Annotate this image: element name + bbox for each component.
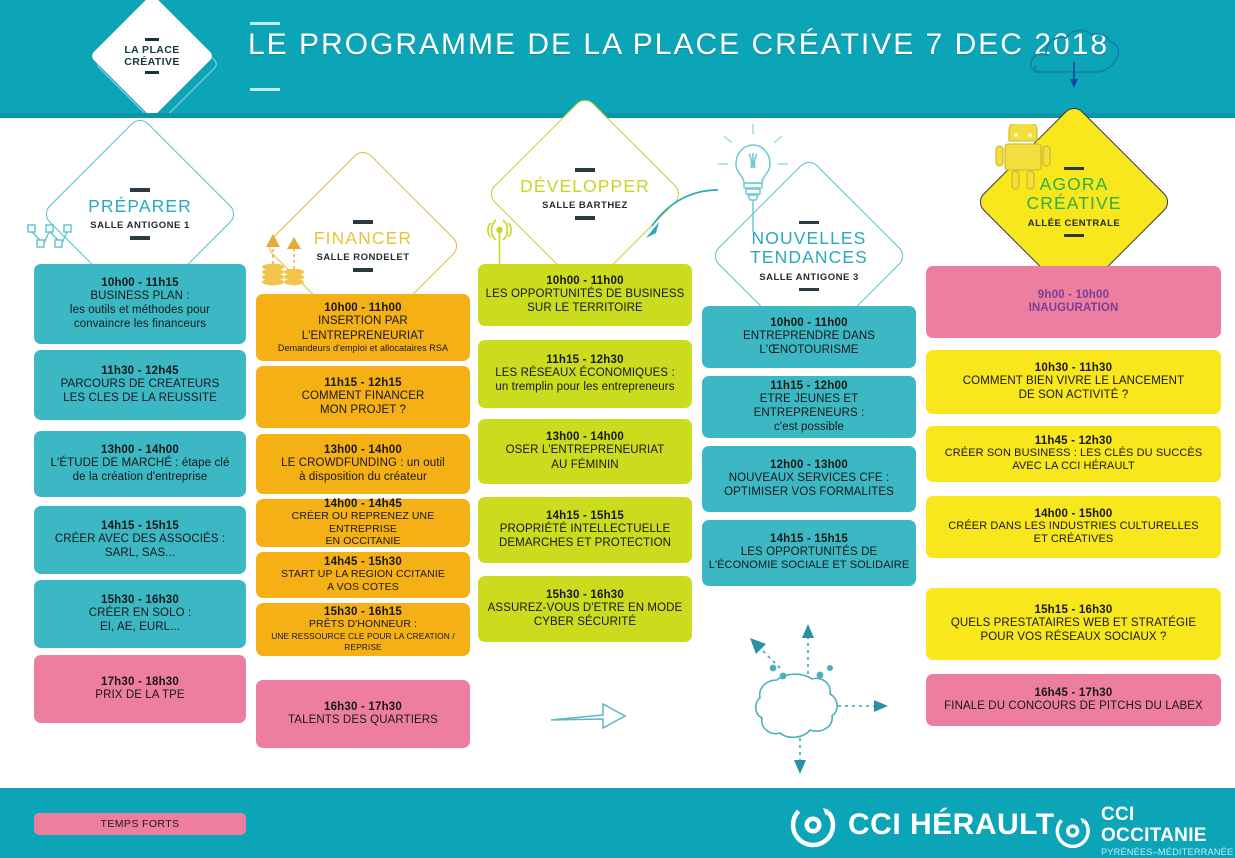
- session-title-line: ET CRÉATIVES: [1034, 533, 1114, 546]
- logo-dash-top: [145, 38, 159, 41]
- coins-growth-icon: [260, 230, 314, 293]
- cci-occitanie-logo: CCI OCCITANIE PYRÉNÉES–MÉDITERRANÉE: [1055, 805, 1235, 857]
- session-title-line: POUR VOS RÉSEAUX SOCIAUX ?: [980, 630, 1166, 644]
- program-board: PRÉPARER SALLE ANTIGONE 1 10h00 -: [0, 118, 1235, 788]
- session-title-line: PRIX DE LA TPE: [95, 688, 184, 702]
- session-title-line: NOUVEAUX SERVICES CFE :: [729, 471, 890, 485]
- session-time: 10h00 - 11h00: [770, 317, 847, 329]
- session-title-line: BUSINESS PLAN :: [90, 289, 189, 303]
- session-time: 15h30 - 16h15: [324, 606, 402, 618]
- head-dash-bottom: [799, 288, 819, 292]
- session-title-line: un tremplin pour les entrepreneurs: [495, 380, 674, 394]
- session-title-line: OSER L'ENTREPRENEURIAT: [506, 443, 665, 457]
- session-title-line: QUELS PRESTATAIRES WEB ET STRATÉGIE: [951, 616, 1196, 630]
- session-title-line: INSERTION PAR L'ENTREPRENEURIAT: [262, 314, 464, 342]
- session-title-line: à disposition du créateur: [299, 470, 427, 484]
- head-dash-bottom: [575, 216, 595, 220]
- session-card[interactable]: 15h15 - 16h30 QUELS PRESTATAIRES WEB ET …: [926, 588, 1221, 660]
- head-dash-top: [353, 220, 373, 224]
- session-card[interactable]: 13h00 - 14h00 LE CROWDFUNDING : un outil…: [256, 434, 470, 494]
- session-card[interactable]: 15h30 - 16h15 PRÊTS D'HONNEUR : UNE RESS…: [256, 603, 470, 656]
- session-time: 17h30 - 18h30: [101, 676, 179, 688]
- session-title-line: PROPRIÉTÉ INTELLECTUELLE: [500, 522, 670, 536]
- page-header: LA PLACE CRÉATIVE LE PROGRAMME DE LA PLA…: [0, 0, 1235, 113]
- arrow-right-outline-icon: [549, 698, 629, 739]
- session-card[interactable]: 10h00 - 11h00 ENTREPRENDRE DANS L'ŒNOTOU…: [702, 306, 916, 368]
- cci-herault-logo: CCI HÉRAULT: [790, 802, 1055, 848]
- page-title: LE PROGRAMME DE LA PLACE CRÉATIVE 7 DEC …: [248, 28, 1109, 62]
- column-subtitle: SALLE ANTIGONE 1: [90, 220, 190, 231]
- session-card[interactable]: 13h00 - 14h00 OSER L'ENTREPRENEURIAT AU …: [478, 419, 692, 484]
- session-title-line: convaincre les financeurs: [74, 317, 206, 331]
- session-title-line: COMMENT BIEN VIVRE LE LANCEMENT: [963, 374, 1184, 388]
- session-title-line: EN OCCITANIE: [325, 535, 400, 548]
- legend-temps-forts: TEMPS FORTS: [34, 813, 246, 835]
- session-time: 15h30 - 16h30: [101, 594, 179, 606]
- session-title-line: CRÉER OU REPRENEZ UNE ENTREPRISE: [262, 510, 464, 536]
- column-head-preparer: PRÉPARER SALLE ANTIGONE 1: [70, 144, 210, 284]
- session-title-line: CRÉER SON BUSINESS : LES CLÉS DU SUCCÈS: [945, 447, 1203, 460]
- session-title-line: INAUGURATION: [1029, 301, 1119, 315]
- session-title-line: L'ÉTUDE DE MARCHÉ : étape clé: [51, 456, 230, 470]
- session-title-line: AVEC LA CCI HÉRAULT: [1012, 460, 1135, 473]
- column-title: PRÉPARER: [88, 197, 192, 216]
- session-card[interactable]: 15h30 - 16h30 ASSUREZ-VOUS D'ETRE EN MOD…: [478, 576, 692, 642]
- session-title-line: START UP LA REGION CCITANIE: [281, 568, 445, 581]
- session-card[interactable]: 14h15 - 15h15 PROPRIÉTÉ INTELLECTUELLE D…: [478, 497, 692, 563]
- session-note: Demandeurs d'emploi et allocataires RSA: [278, 343, 448, 353]
- session-title-line: de la création d'entreprise: [73, 470, 208, 484]
- column-subtitle: ALLÉE CENTRALE: [1028, 218, 1121, 229]
- session-title-line: MON PROJET ?: [320, 403, 406, 417]
- session-title-line: PRÊTS D'HONNEUR :: [309, 618, 417, 631]
- session-time: 14h15 - 15h15: [770, 533, 848, 545]
- session-title-line: SARL, SAS...: [105, 546, 175, 560]
- head-dash-top: [1064, 167, 1084, 171]
- session-title-line: TALENTS DES QUARTIERS: [288, 713, 438, 727]
- session-time: 14h45 - 15h30: [324, 556, 402, 568]
- head-dash-bottom: [1064, 234, 1084, 238]
- session-time: 13h00 - 14h00: [101, 444, 179, 456]
- session-time: 10h00 - 11h00: [324, 302, 401, 314]
- session-time: 13h00 - 14h00: [324, 444, 402, 456]
- session-card[interactable]: 17h30 - 18h30 PRIX DE LA TPE: [34, 655, 246, 723]
- session-card[interactable]: 10h30 - 11h30 COMMENT BIEN VIVRE LE LANC…: [926, 350, 1221, 414]
- session-title-line: AU FÉMININ: [551, 458, 618, 472]
- head-dash-bottom: [353, 268, 373, 272]
- session-time: 11h15 - 12h15: [324, 377, 401, 389]
- session-title-line: PARCOURS DE CREATEURS: [61, 377, 220, 391]
- network-nodes-icon: [26, 223, 88, 260]
- session-card[interactable]: 11h15 - 12h00 ETRE JEUNES ET ENTREPRENEU…: [702, 376, 916, 438]
- session-time: 11h45 - 12h30: [1035, 435, 1112, 447]
- session-note: UNE RESSOURCE CLE POUR LA CREATION / REP…: [262, 631, 464, 654]
- session-card[interactable]: 14h00 - 14h45 CRÉER OU REPRENEZ UNE ENTR…: [256, 499, 470, 547]
- session-card[interactable]: 16h45 - 17h30 FINALE DU CONCOURS DE PITC…: [926, 674, 1221, 726]
- session-title-line: ASSUREZ-VOUS D'ETRE EN MODE: [488, 601, 683, 615]
- brand-logo: LA PLACE CRÉATIVE: [108, 12, 196, 100]
- session-card[interactable]: 11h15 - 12h30 LES RÉSEAUX ÉCONOMIQUES : …: [478, 340, 692, 408]
- logo-line-1: LA PLACE: [124, 44, 180, 56]
- session-card[interactable]: 14h00 - 15h00 CRÉER DANS LES INDUSTRIES …: [926, 496, 1221, 558]
- session-title-line: OPTIMISER VOS FORMALITES: [724, 485, 894, 499]
- head-dash-bottom: [130, 236, 150, 240]
- cci-occitanie-label: CCI OCCITANIE: [1101, 805, 1235, 847]
- session-title-line: DEMARCHES ET PROTECTION: [499, 536, 671, 550]
- page-footer: TEMPS FORTS CCI HÉRAULT CCI OCCITANIE PY…: [0, 788, 1235, 858]
- curved-arrow-icon: [622, 186, 722, 253]
- session-card[interactable]: 11h30 - 12h45 PARCOURS DE CREATEURS LES …: [34, 350, 246, 420]
- session-time: 15h15 - 16h30: [1034, 604, 1112, 616]
- cloud-download-icon: [1025, 26, 1123, 93]
- session-time: 14h00 - 14h45: [324, 498, 402, 510]
- session-title-line: SUR LE TERRITOIRE: [527, 301, 643, 315]
- session-title-line: A VOS COTES: [327, 581, 399, 594]
- cloud-arrows-icon: [730, 618, 920, 783]
- legend-label: TEMPS FORTS: [101, 818, 180, 830]
- title-dash-top: [250, 22, 280, 25]
- logo-line-2: CRÉATIVE: [124, 56, 180, 68]
- session-title-line: CRÉER AVEC DES ASSOCIÉS :: [55, 532, 225, 546]
- session-time: 11h15 - 12h00: [770, 380, 847, 392]
- session-time: 14h00 - 15h00: [1034, 508, 1112, 520]
- session-title-line: LES RÉSEAUX ÉCONOMIQUES :: [495, 366, 675, 380]
- session-time: 14h15 - 15h15: [546, 510, 624, 522]
- session-title-line: EI, AE, EURL...: [100, 620, 180, 634]
- session-title-line: ETRE JEUNES ET ENTREPRENEURS :: [708, 392, 910, 420]
- column-title: FINANCER: [314, 229, 412, 248]
- antenna-signal-icon: [478, 206, 520, 273]
- cci-mark-icon: [1055, 812, 1092, 850]
- column-subtitle: SALLE ANTIGONE 3: [759, 272, 859, 283]
- session-card[interactable]: 10h00 - 11h15 BUSINESS PLAN : les outils…: [34, 264, 246, 344]
- session-time: 16h45 - 17h30: [1034, 687, 1112, 699]
- session-time: 13h00 - 14h00: [546, 431, 624, 443]
- session-card[interactable]: 15h30 - 16h30 CRÉER EN SOLO : EI, AE, EU…: [34, 580, 246, 648]
- session-title-line: COMMENT FINANCER: [302, 389, 425, 403]
- session-title-line: L'ŒNOTOURISME: [759, 343, 858, 357]
- session-card[interactable]: 13h00 - 14h00 L'ÉTUDE DE MARCHÉ : étape …: [34, 431, 246, 497]
- cci-mark-icon: [790, 802, 838, 848]
- session-time: 11h30 - 12h45: [101, 365, 178, 377]
- infographic-page: LA PLACE CRÉATIVE LE PROGRAMME DE LA PLA…: [0, 0, 1235, 858]
- session-title-line: DE SON ACTIVITÉ ?: [1019, 388, 1129, 402]
- session-card[interactable]: 16h30 - 17h30 TALENTS DES QUARTIERS: [256, 680, 470, 748]
- session-title-line: FINALE DU CONCOURS DE PITCHS DU LABEX: [944, 699, 1203, 713]
- lightbulb-idea-icon: [712, 120, 792, 245]
- session-time: 9h00 - 10h00: [1038, 289, 1109, 301]
- session-card[interactable]: 10h00 - 11h00 LES OPPORTUNITÉS DE BUSINE…: [478, 264, 692, 326]
- head-dash-top: [799, 221, 819, 225]
- session-time: 10h30 - 11h30: [1035, 362, 1112, 374]
- title-dash-bottom: [250, 88, 280, 91]
- session-card[interactable]: 14h45 - 15h30 START UP LA REGION CCITANI…: [256, 552, 470, 598]
- session-time: 14h15 - 15h15: [101, 520, 179, 532]
- column-subtitle: SALLE BARTHEZ: [542, 200, 628, 211]
- session-card[interactable]: 14h15 - 15h15 CRÉER AVEC DES ASSOCIÉS : …: [34, 506, 246, 574]
- session-title-line: LES OPPORTUNITÉS DE BUSINESS: [486, 287, 685, 301]
- column-subtitle: SALLE RONDELET: [316, 252, 409, 263]
- session-card[interactable]: 11h15 - 12h15 COMMENT FINANCER MON PROJE…: [256, 366, 470, 428]
- session-card[interactable]: 11h45 - 12h30 CRÉER SON BUSINESS : LES C…: [926, 426, 1221, 482]
- session-title-line: ENTREPRENDRE DANS: [743, 329, 875, 343]
- head-dash-top: [575, 168, 595, 172]
- session-title-line: c'est possible: [774, 420, 844, 434]
- logo-dash-bottom: [145, 71, 159, 74]
- session-card[interactable]: 10h00 - 11h00 INSERTION PAR L'ENTREPRENE…: [256, 294, 470, 361]
- session-time: 12h00 - 13h00: [770, 459, 848, 471]
- session-title-line: CYBER SÉCURITÉ: [534, 615, 636, 629]
- session-title-line: les outils et méthodes pour: [70, 303, 210, 317]
- cci-occitanie-sublabel: PYRÉNÉES–MÉDITERRANÉE: [1101, 847, 1235, 857]
- session-title-line: LES CLES DE LA REUSSITE: [63, 391, 217, 405]
- head-dash-top: [130, 188, 150, 192]
- session-time: 15h30 - 16h30: [546, 589, 624, 601]
- session-card[interactable]: 12h00 - 13h00 NOUVEAUX SERVICES CFE : OP…: [702, 446, 916, 512]
- session-title-line: LE CROWDFUNDING : un outil: [281, 456, 445, 470]
- session-card[interactable]: 9h00 - 10h00 INAUGURATION: [926, 266, 1221, 338]
- session-time: 10h00 - 11h00: [546, 275, 623, 287]
- session-card[interactable]: 14h15 - 15h15 LES OPPORTUNITÉS DE L'ÉCON…: [702, 520, 916, 586]
- session-title-line: CRÉER DANS LES INDUSTRIES CULTURELLES: [948, 520, 1198, 533]
- session-title-line: CRÉER EN SOLO :: [89, 606, 191, 620]
- session-time: 10h00 - 11h15: [101, 277, 178, 289]
- session-title-line: L'ÉCONOMIE SOCIALE ET SOLIDAIRE: [709, 559, 910, 572]
- session-title-line: LES OPPORTUNITÉS DE: [741, 545, 878, 559]
- android-robot-icon: [992, 124, 1054, 199]
- session-time: 11h15 - 12h30: [546, 354, 623, 366]
- cci-herault-label: CCI HÉRAULT: [848, 808, 1055, 842]
- session-time: 16h30 - 17h30: [324, 701, 402, 713]
